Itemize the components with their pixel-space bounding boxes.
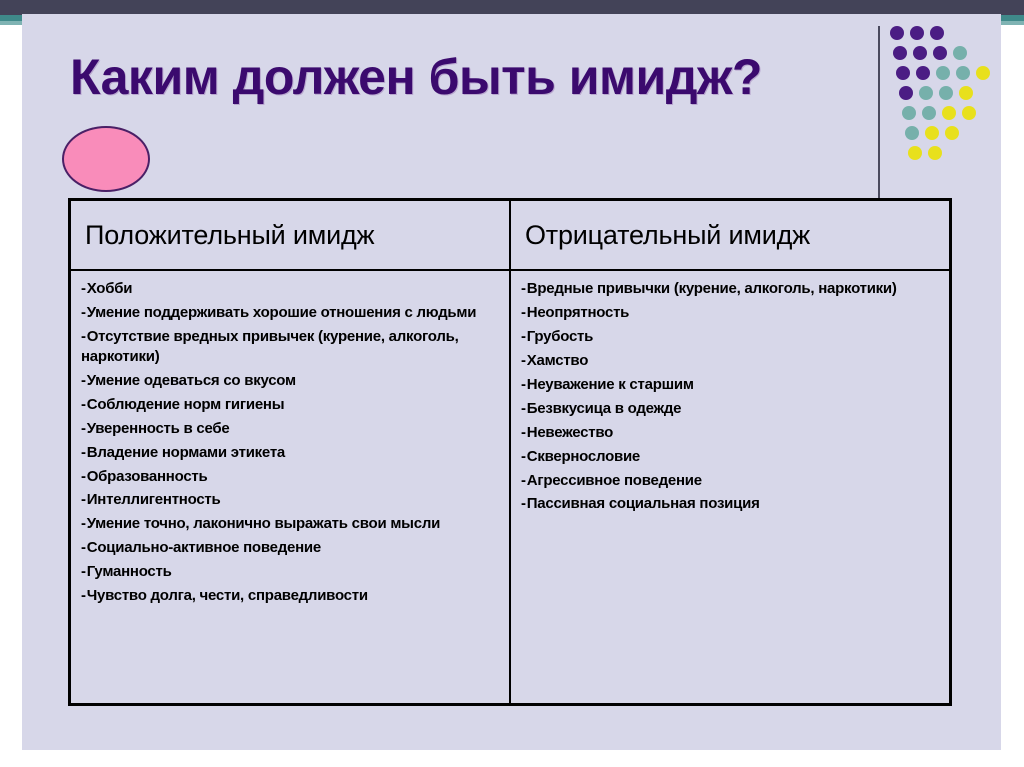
- table-header-row: Положительный имидж Отрицательный имидж: [71, 201, 949, 271]
- pink-ellipse-decoration: [62, 126, 150, 192]
- list-item: Умение точно, лаконично выражать свои мы…: [81, 514, 499, 534]
- list-item: Гуманность: [81, 562, 499, 582]
- list-item: Грубость: [521, 327, 939, 347]
- list-item: Образованность: [81, 467, 499, 487]
- decorative-dot: [925, 126, 939, 140]
- decorative-dot: [905, 126, 919, 140]
- decorative-dot: [899, 86, 913, 100]
- list-item: Умение поддерживать хорошие отношения с …: [81, 303, 499, 323]
- decorative-dot: [890, 26, 904, 40]
- image-comparison-table: Положительный имидж Отрицательный имидж …: [68, 198, 952, 706]
- decorative-dot: [902, 106, 916, 120]
- list-item: Соблюдение норм гигиены: [81, 395, 499, 415]
- decorative-dot: [893, 46, 907, 60]
- list-item: Владение нормами этикета: [81, 443, 499, 463]
- vertical-divider-line: [878, 26, 880, 204]
- list-item: Неопрятность: [521, 303, 939, 323]
- decorative-dot: [945, 126, 959, 140]
- decorative-dot: [953, 46, 967, 60]
- decorative-dot: [916, 66, 930, 80]
- list-item: Уверенность в себе: [81, 419, 499, 439]
- negative-image-list: Вредные привычки (курение, алкоголь, нар…: [521, 279, 939, 514]
- dot-grid-decoration: [890, 26, 1001, 186]
- chrome-dark-band: [0, 0, 1024, 15]
- decorative-dot: [908, 146, 922, 160]
- list-item: Сквернословие: [521, 447, 939, 467]
- decorative-dot: [942, 106, 956, 120]
- list-item: Интеллигентность: [81, 490, 499, 510]
- list-item: Неуважение к старшим: [521, 375, 939, 395]
- decorative-dot: [959, 86, 973, 100]
- decorative-dot: [913, 46, 927, 60]
- list-item: Отсутствие вредных привычек (курение, ал…: [81, 327, 499, 367]
- list-item: Хобби: [81, 279, 499, 299]
- list-item: Чувство долга, чести, справедливости: [81, 586, 499, 606]
- decorative-dot: [939, 86, 953, 100]
- decorative-dot: [922, 106, 936, 120]
- table-cell-positive: ХоббиУмение поддерживать хорошие отношен…: [71, 271, 511, 705]
- decorative-dot: [976, 66, 990, 80]
- decorative-dot: [962, 106, 976, 120]
- table-cell-negative: Вредные привычки (курение, алкоголь, нар…: [511, 271, 949, 705]
- page-title: Каким должен быть имидж?: [70, 48, 870, 106]
- decorative-dot: [910, 26, 924, 40]
- decorative-dot: [919, 86, 933, 100]
- list-item: Социально-активное поведение: [81, 538, 499, 558]
- table-body-row: ХоббиУмение поддерживать хорошие отношен…: [71, 271, 949, 705]
- list-item: Хамство: [521, 351, 939, 371]
- decorative-dot: [936, 66, 950, 80]
- decorative-dot: [928, 146, 942, 160]
- slide-canvas: Каким должен быть имидж? Положительный и…: [22, 14, 1001, 750]
- decorative-dot: [956, 66, 970, 80]
- table-header-positive: Положительный имидж: [71, 201, 511, 269]
- decorative-dot: [930, 26, 944, 40]
- positive-image-list: ХоббиУмение поддерживать хорошие отношен…: [81, 279, 499, 606]
- list-item: Невежество: [521, 423, 939, 443]
- list-item: Пассивная социальная позиция: [521, 494, 939, 514]
- list-item: Умение одеваться со вкусом: [81, 371, 499, 391]
- decorative-dot: [933, 46, 947, 60]
- list-item: Безвкусица в одежде: [521, 399, 939, 419]
- decorative-dot: [896, 66, 910, 80]
- list-item: Агрессивное поведение: [521, 471, 939, 491]
- list-item: Вредные привычки (курение, алкоголь, нар…: [521, 279, 939, 299]
- table-header-negative: Отрицательный имидж: [511, 201, 949, 269]
